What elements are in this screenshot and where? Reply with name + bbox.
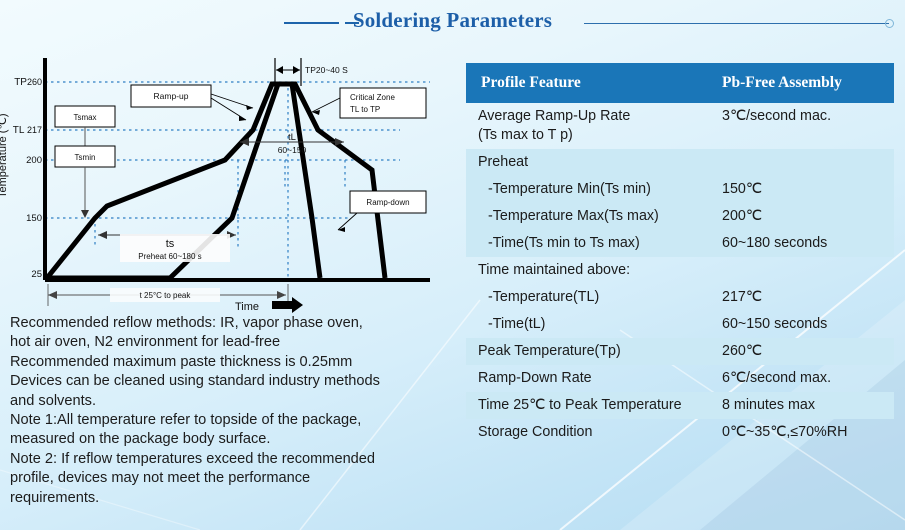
notes-block: Recommended reflow methods: IR, vapor ph…	[10, 314, 462, 508]
table-cell-feature: Time 25℃ to Peak Temperature	[466, 392, 722, 419]
chart-annotation-critical-zone: Critical Zone TL to TP	[312, 88, 426, 118]
note-line-2: hot air oven, N2 environment for lead-fr…	[10, 333, 462, 352]
note-line-10: requirements.	[10, 489, 462, 508]
table-row: Average Ramp-Up Rate (Ts max to T p) 3℃/…	[466, 103, 894, 149]
note-line-4: Devices can be cleaned using standard in…	[10, 372, 462, 391]
table-cell-value: 217℃	[722, 284, 894, 311]
chart-annotation-ts-span: ts Preheat 60~180 s	[98, 231, 236, 262]
title-rule-left	[284, 22, 339, 24]
table-row: Storage Condition 0℃~35℃,≤70%RH	[466, 419, 894, 446]
table-row: Peak Temperature(Tp) 260℃	[466, 338, 894, 365]
table-row: -Temperature Min(Ts min) 150℃	[466, 176, 894, 203]
table-cell-feature: -Time(Ts min to Ts max)	[466, 230, 722, 257]
table-cell-feature: Time maintained above:	[466, 257, 722, 284]
title-rule-endpoint	[885, 19, 894, 28]
note-line-5: and solvents.	[10, 392, 462, 411]
chart-x-axis-title: Time	[235, 301, 259, 313]
svg-text:TL 217: TL 217	[13, 125, 42, 136]
table-cell-feature: -Temperature Max(Ts max)	[466, 203, 722, 230]
table-row: -Temperature(TL) 217℃	[466, 284, 894, 311]
chart-label-tsmin: Tsmin	[75, 153, 96, 162]
chart-label-tl: tL	[288, 132, 296, 143]
reflow-profile-chart: Temperature (℃) TP260 TL 217 200 150 25	[0, 48, 460, 313]
chart-label-tsmax: Tsmax	[73, 113, 96, 122]
chart-label-tp-dwell: TP20~40 S	[305, 65, 348, 75]
table-cell-feature: Storage Condition	[466, 419, 722, 446]
title-rule-right	[584, 23, 889, 24]
time-direction-arrow	[272, 297, 303, 313]
title-rule-left-dash	[345, 22, 359, 24]
table-cell-feature: -Temperature Min(Ts min)	[466, 176, 722, 203]
table-header-pb-free-assembly: Pb-Free Assembly	[722, 74, 894, 92]
chart-annotation-ramp-up: Ramp-up	[131, 85, 253, 121]
page-header: Soldering Parameters	[0, 0, 905, 40]
note-line-9: profile, devices may not meet the perfor…	[10, 469, 462, 488]
note-line-3: Recommended maximum paste thickness is 0…	[10, 353, 462, 372]
table-header-profile-feature: Profile Feature	[466, 74, 722, 92]
table-header-row: Profile Feature Pb-Free Assembly	[466, 63, 894, 103]
chart-annotation-ramp-down: Ramp-down	[338, 191, 426, 232]
note-line-7: measured on the package body surface.	[10, 430, 462, 449]
table-cell-value: 60~180 seconds	[722, 230, 894, 257]
table-cell-feature: Preheat	[466, 149, 722, 176]
note-line-6: Note 1:All temperature refer to topside …	[10, 411, 462, 430]
table-cell-feature: -Time(tL)	[466, 311, 722, 338]
note-line-1: Recommended reflow methods: IR, vapor ph…	[10, 314, 462, 333]
table-cell-value	[722, 257, 894, 265]
chart-label-ramp-down: Ramp-down	[366, 198, 409, 207]
chart-x-axis-label-group: Time	[235, 297, 303, 313]
svg-text:25: 25	[31, 269, 42, 280]
note-line-8: Note 2: If reflow temperatures exceed th…	[10, 450, 462, 469]
table-cell-value: 260℃	[722, 338, 894, 365]
table-row: Time maintained above:	[466, 257, 894, 284]
table-cell-feature-line2: (Ts max to T p)	[478, 126, 720, 145]
chart-label-ramp-up: Ramp-up	[154, 91, 189, 101]
table-cell-value: 150℃	[722, 176, 894, 203]
table-cell-value: 6℃/second max.	[722, 365, 894, 392]
chart-label-ts-sub: Preheat 60~180 s	[138, 252, 201, 261]
chart-label-ts: ts	[166, 238, 175, 250]
chart-label-tl-sub: 60~150	[278, 145, 307, 155]
table-cell-value: 60~150 seconds	[722, 311, 894, 338]
table-cell-feature: Ramp-Down Rate	[466, 365, 722, 392]
chart-label-critical-zone: Critical Zone	[350, 93, 395, 102]
table-cell-feature: Peak Temperature(Tp)	[466, 338, 722, 365]
table-row: -Time(Ts min to Ts max) 60~180 seconds	[466, 230, 894, 257]
table-row: Preheat	[466, 149, 894, 176]
table-row: -Time(tL) 60~150 seconds	[466, 311, 894, 338]
svg-text:150: 150	[26, 213, 42, 224]
page-title: Soldering Parameters	[353, 8, 552, 33]
chart-label-time-to-peak: t 25°C to peak	[140, 291, 192, 300]
chart-y-axis-title: Temperature (℃)	[0, 114, 9, 199]
table-cell-value: 8 minutes max	[722, 392, 894, 419]
chart-y-tick-labels: TP260 TL 217 200 150 25	[13, 77, 42, 280]
svg-text:200: 200	[26, 155, 42, 166]
chart-label-critical-zone-2: TL to TP	[350, 105, 380, 114]
table-cell-value	[722, 149, 894, 157]
table-row: -Temperature Max(Ts max) 200℃	[466, 203, 894, 230]
table-cell-value: 3℃/second mac.	[722, 103, 894, 130]
soldering-parameters-table: Profile Feature Pb-Free Assembly Average…	[466, 63, 894, 446]
svg-text:TP260: TP260	[14, 77, 42, 88]
table-cell-feature: -Temperature(TL)	[466, 284, 722, 311]
table-cell-value: 200℃	[722, 203, 894, 230]
table-row: Ramp-Down Rate 6℃/second max.	[466, 365, 894, 392]
table-row: Time 25℃ to Peak Temperature 8 minutes m…	[466, 392, 894, 419]
table-cell-value: 0℃~35℃,≤70%RH	[722, 419, 894, 446]
table-cell-feature: Average Ramp-Up Rate	[478, 108, 630, 124]
